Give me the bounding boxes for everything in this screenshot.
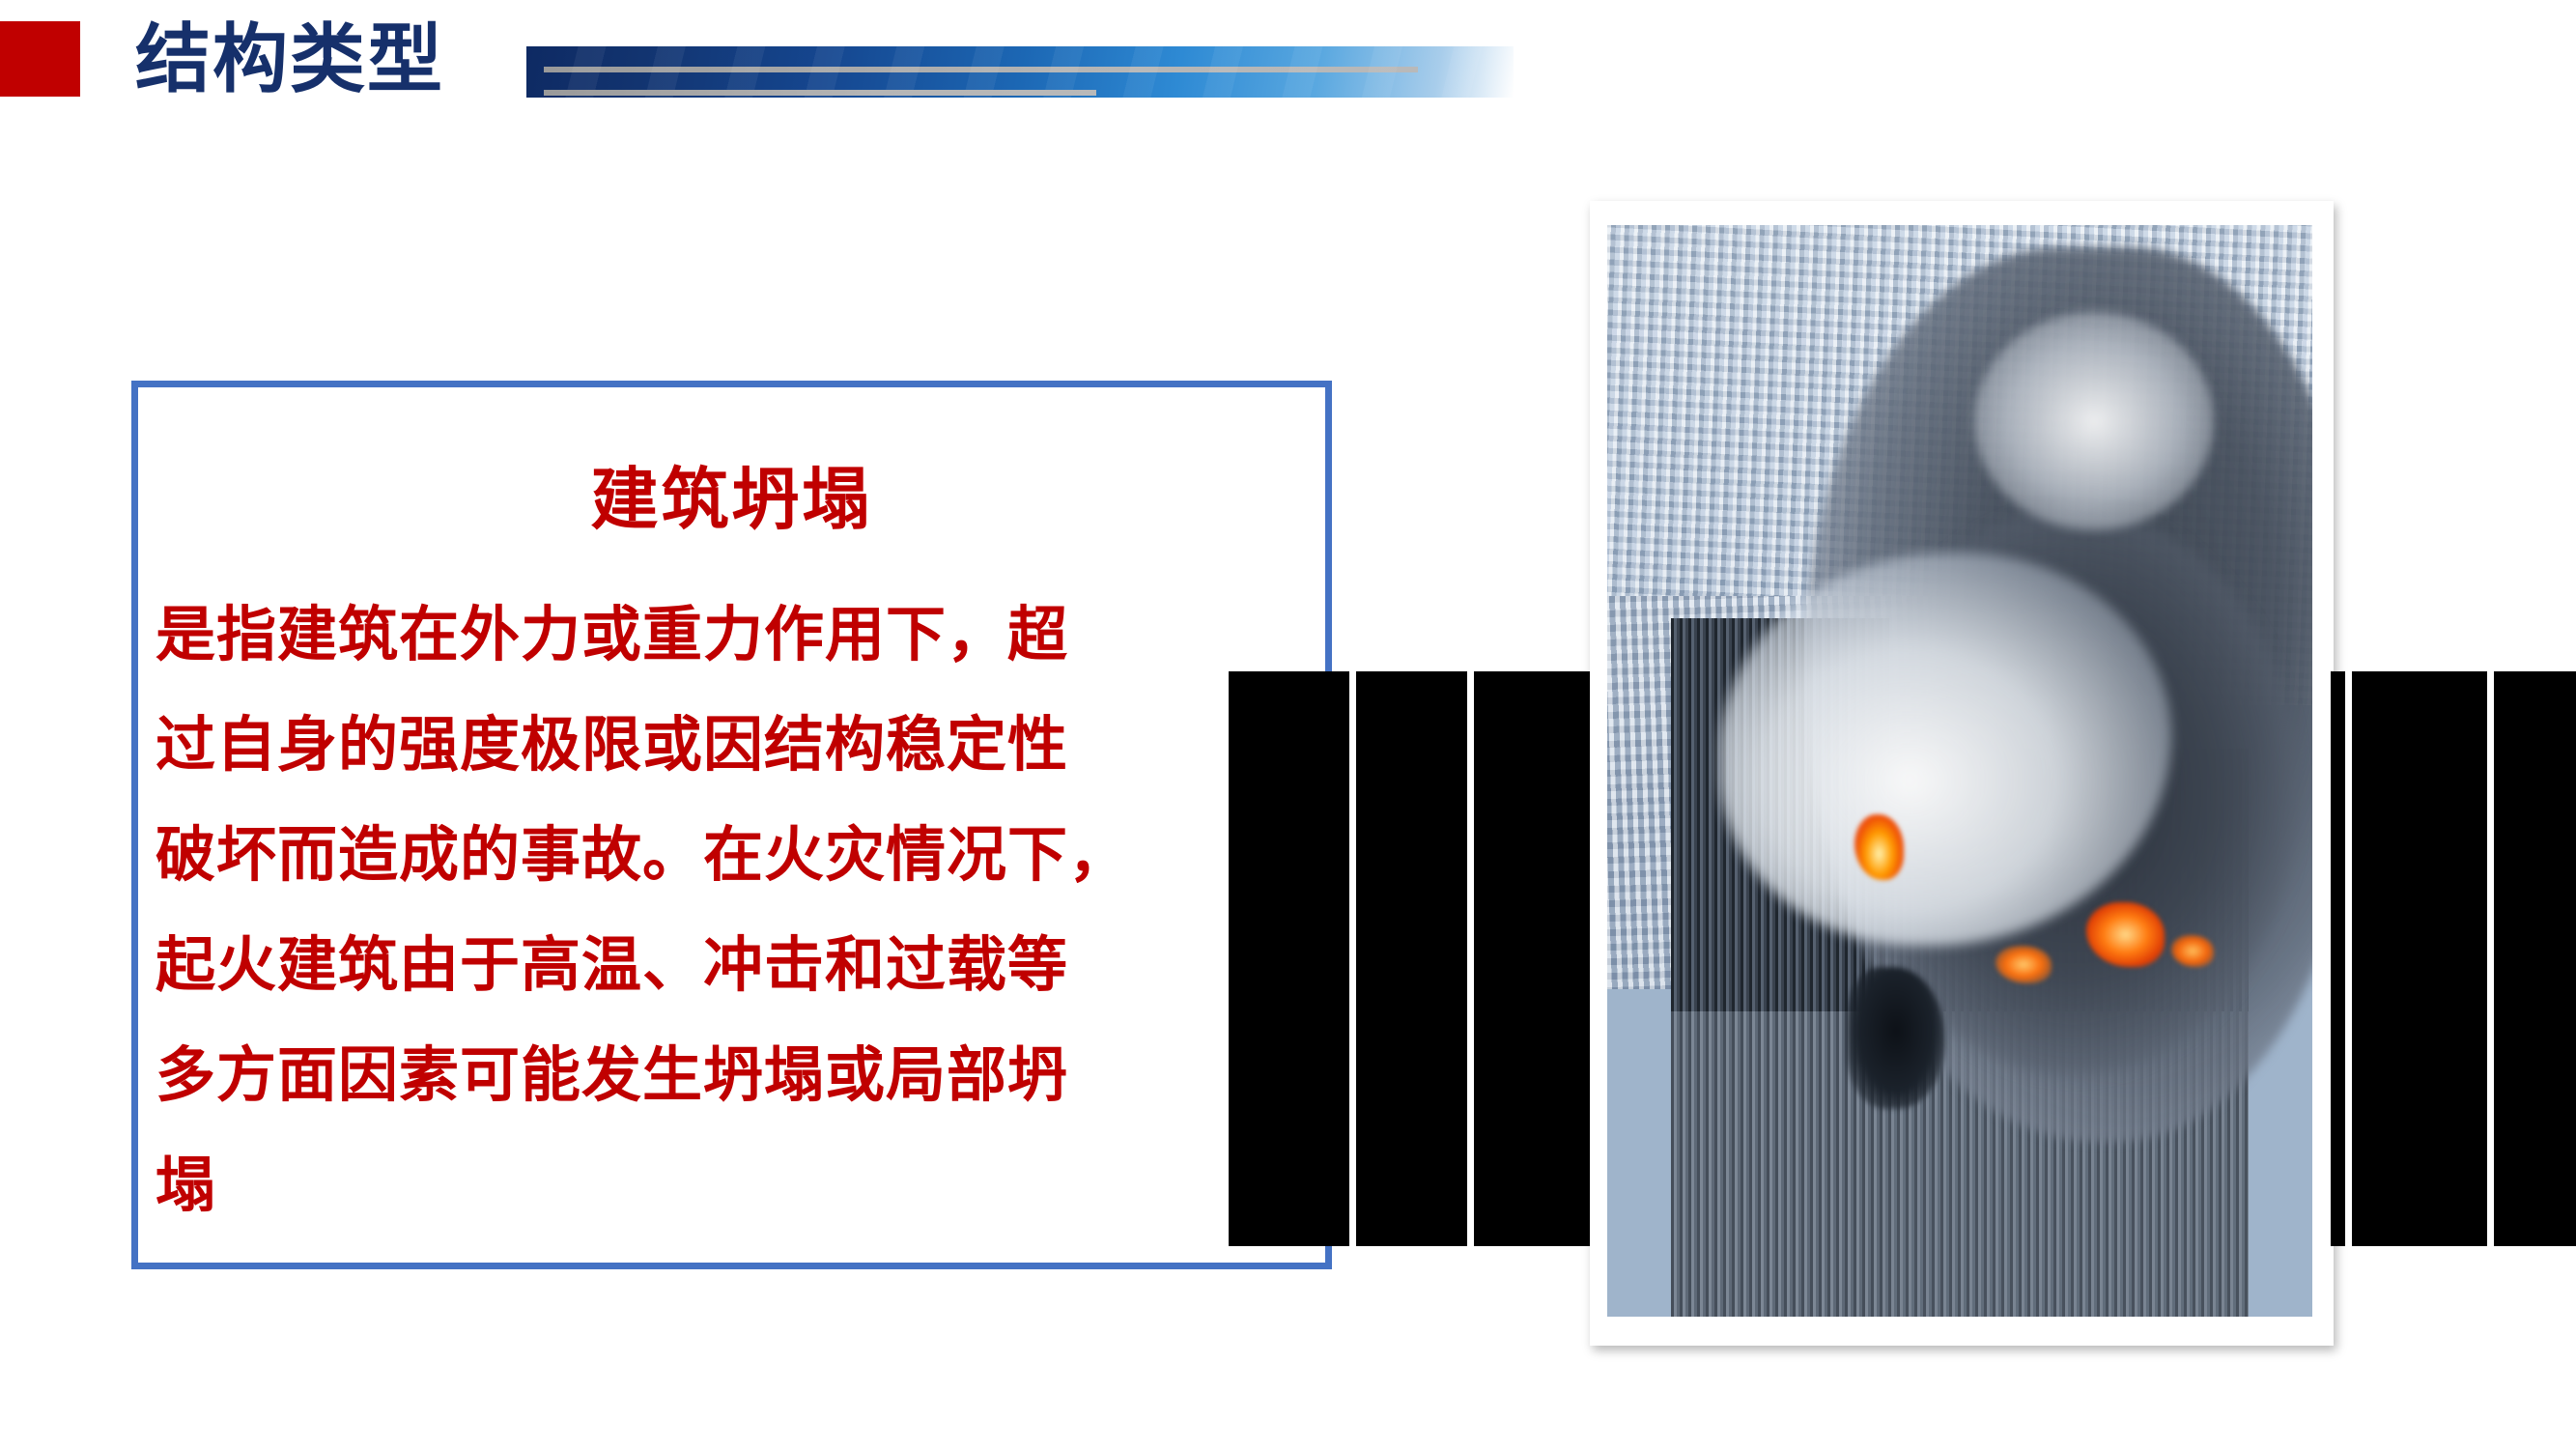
page-title: 结构类型	[135, 17, 444, 100]
content-heading: 建筑坍塌	[138, 463, 1325, 536]
header-accent-block	[0, 21, 80, 97]
occlusion-bar	[1474, 671, 1590, 1246]
occlusion-bar	[1229, 671, 1349, 1246]
occlusion-bar	[2352, 671, 2487, 1246]
building-fire-photo	[1607, 225, 2312, 1317]
occlusion-bar	[1356, 671, 1467, 1246]
banner-sheen-overlay	[526, 46, 1514, 98]
photo-white-smoke-upper	[1974, 312, 2214, 530]
occlusion-bar	[2494, 671, 2576, 1246]
header-banner	[526, 46, 1514, 98]
photo-frame	[1590, 201, 2334, 1346]
occlusion-bar	[2331, 671, 2345, 1246]
content-callout-box: 建筑坍塌 是指建筑在外力或重力作用下，超过自身的强度极限或因结构稳定性破坏而造成…	[131, 381, 1332, 1269]
